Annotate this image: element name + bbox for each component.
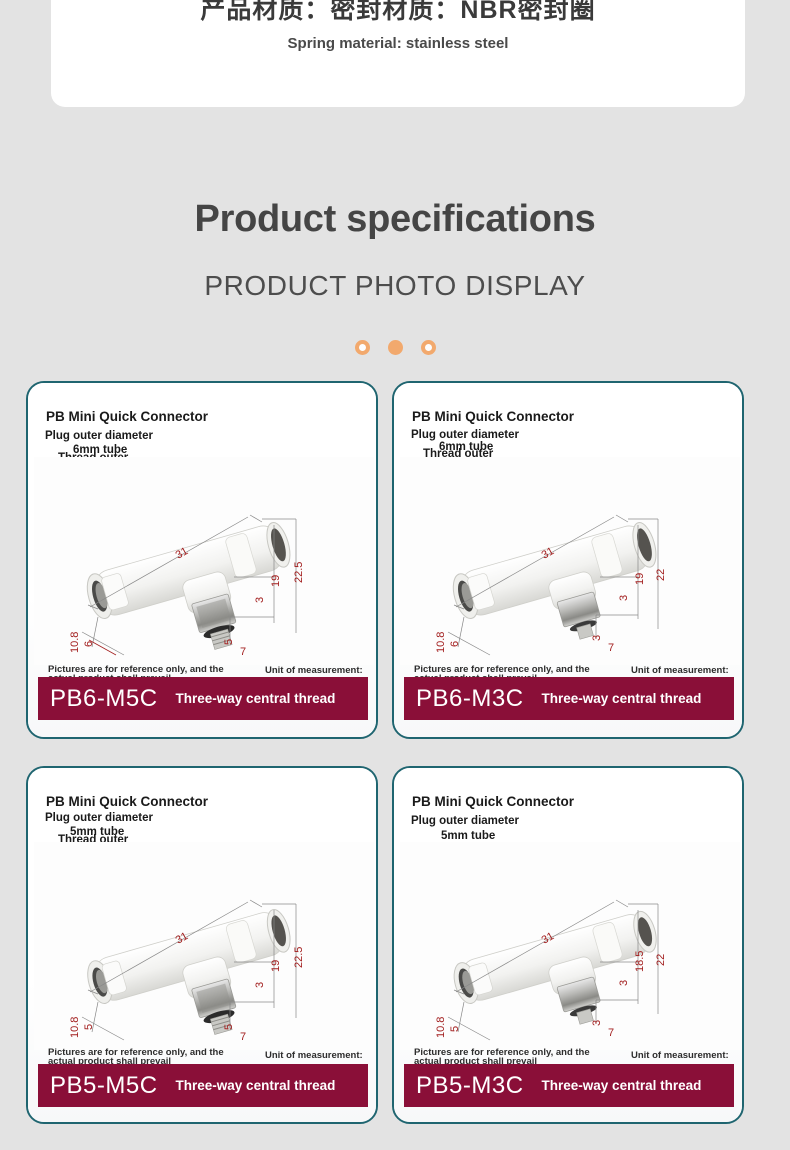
product-code: PB5-M5C	[50, 1072, 158, 1100]
spec-plug-outer-diameter: Plug outer diameter	[411, 815, 519, 827]
product-description: Three-way central thread	[176, 691, 336, 706]
card-body: PB Mini Quick Connector Plug outer diame…	[394, 768, 742, 1122]
dim-side-inner: 6	[83, 641, 95, 647]
dim-height-inner: 19	[270, 960, 282, 972]
dim-height-outer: 22.5	[293, 947, 305, 968]
product-description: Three-way central thread	[542, 1078, 702, 1093]
product-card-pb6-m3c[interactable]: PB Mini Quick Connector Plug outer diame…	[392, 381, 744, 739]
product-specifications-page: 产品材质：密封材质：NBR密封圈 Spring material: stainl…	[0, 0, 790, 1150]
spec-tube-size: 5mm tube	[441, 830, 495, 842]
product-photo-diagram: 31 18.5 22 10.8 5 3 3 7	[400, 842, 740, 1050]
dim-height-inner: 19	[634, 573, 646, 585]
dim-thread-total: 7	[608, 1027, 614, 1039]
dim-side-inner: 5	[83, 1024, 95, 1030]
dim-thread-offset: 3	[618, 595, 630, 601]
spring-material-text: Spring material: stainless steel	[51, 35, 745, 52]
product-photo-diagram: 31 19 22 10.8 6 3 3 7	[400, 457, 740, 665]
product-code: PB5-M3C	[416, 1072, 524, 1100]
dim-height-inner: 19	[270, 575, 282, 587]
card-title: PB Mini Quick Connector	[46, 409, 208, 424]
product-code: PB6-M5C	[50, 685, 158, 713]
product-banner: PB6-M3C Three-way central thread	[404, 677, 734, 720]
page-title: Product specifications	[0, 198, 790, 241]
unit-of-measurement-label: Unit of measurement:	[631, 1051, 741, 1060]
dim-side-inner: 6	[449, 641, 461, 647]
dim-side-outer: 10.8	[69, 632, 81, 653]
unit-of-measurement-label: Unit of measurement:	[265, 666, 375, 675]
dim-thread-offset: 3	[254, 982, 266, 988]
product-card-pb6-m5c[interactable]: PB Mini Quick Connector Plug outer diame…	[26, 381, 378, 739]
product-card-pb5-m5c[interactable]: PB Mini Quick Connector Plug outer diame…	[26, 766, 378, 1124]
card-title: PB Mini Quick Connector	[412, 409, 574, 424]
dim-thread-len: 5	[223, 1024, 235, 1030]
product-code: PB6-M3C	[416, 685, 524, 713]
card-body: PB Mini Quick Connector Plug outer diame…	[394, 383, 742, 737]
dim-height-outer: 22	[655, 954, 667, 966]
carousel-dot-1[interactable]	[355, 340, 370, 355]
spec-plug-outer-diameter: Plug outer diameter	[411, 429, 519, 441]
product-description: Three-way central thread	[542, 691, 702, 706]
product-photo-diagram: 31 19 22.5 10.8 5 3 5 7	[34, 842, 374, 1050]
dim-height-outer: 22	[655, 569, 667, 581]
dim-thread-total: 7	[240, 646, 246, 658]
dim-thread-total: 7	[240, 1031, 246, 1043]
dim-side-outer: 10.8	[435, 1017, 447, 1038]
material-chinese-text: 产品材质：密封材质：NBR密封圈	[51, 0, 745, 26]
carousel-dots	[0, 340, 790, 355]
dim-side-inner: 5	[449, 1026, 461, 1032]
card-title: PB Mini Quick Connector	[46, 794, 208, 809]
dim-height-outer: 22.5	[293, 562, 305, 583]
page-subtitle: PRODUCT PHOTO DISPLAY	[0, 270, 790, 302]
card-body: PB Mini Quick Connector Plug outer diame…	[28, 768, 376, 1122]
carousel-dot-2[interactable]	[388, 340, 403, 355]
product-description: Three-way central thread	[176, 1078, 336, 1093]
spec-plug-outer-diameter: Plug outer diameter	[45, 430, 153, 442]
dim-thread-len: 5	[223, 639, 235, 645]
product-banner: PB5-M5C Three-way central thread	[38, 1064, 368, 1107]
dim-thread-len: 3	[591, 635, 603, 641]
product-banner: PB5-M3C Three-way central thread	[404, 1064, 734, 1107]
product-card-pb5-m3c[interactable]: PB Mini Quick Connector Plug outer diame…	[392, 766, 744, 1124]
spec-plug-outer-diameter: Plug outer diameter	[45, 812, 153, 824]
unit-of-measurement-label: Unit of measurement:	[265, 1051, 375, 1060]
product-banner: PB6-M5C Three-way central thread	[38, 677, 368, 720]
dim-height-inner: 18.5	[634, 951, 646, 972]
unit-of-measurement-label: Unit of measurement:	[631, 666, 741, 675]
dim-thread-offset: 3	[618, 980, 630, 986]
card-body: PB Mini Quick Connector Plug outer diame…	[28, 383, 376, 737]
dim-thread-offset: 3	[254, 597, 266, 603]
material-info-card: 产品材质：密封材质：NBR密封圈 Spring material: stainl…	[51, 0, 745, 107]
card-title: PB Mini Quick Connector	[412, 794, 574, 809]
dim-side-outer: 10.8	[69, 1017, 81, 1038]
dim-thread-len: 3	[591, 1020, 603, 1026]
dim-side-outer: 10.8	[435, 632, 447, 653]
carousel-dot-3[interactable]	[421, 340, 436, 355]
dim-thread-total: 7	[608, 642, 614, 654]
product-photo-diagram: 31 19 22.5 10.8 6 3 5 7	[34, 457, 374, 665]
